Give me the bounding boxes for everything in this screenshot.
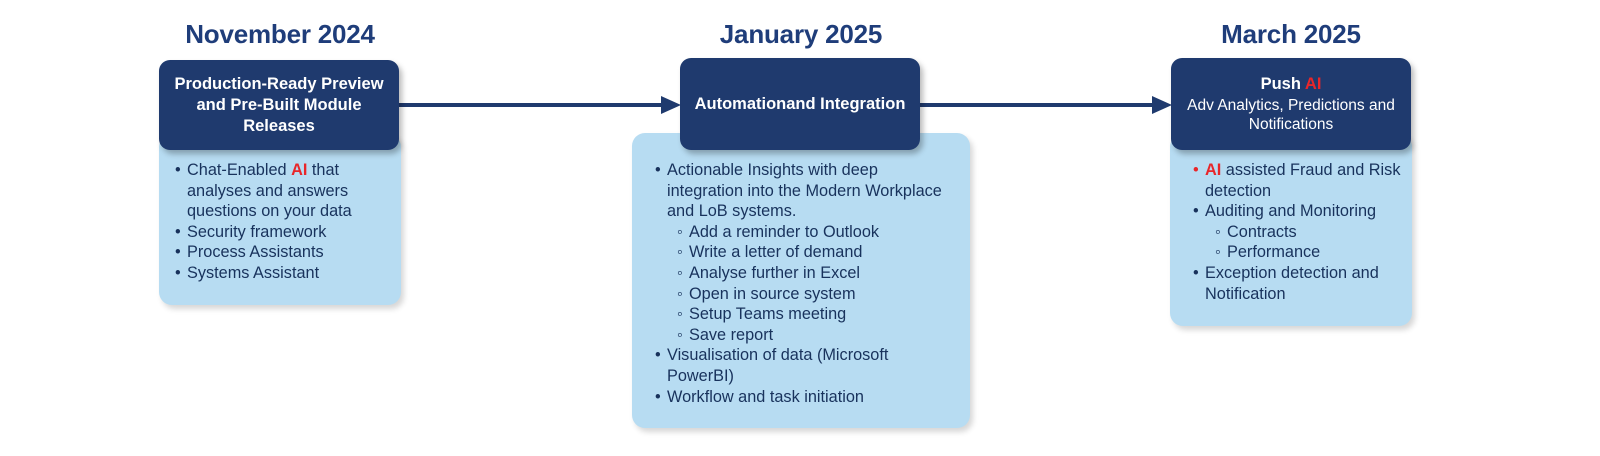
text-run: Security framework [187, 223, 326, 241]
sub-bullet-item: Write a letter of demand [655, 242, 955, 263]
milestone-title-1: Production-Ready Preview and Pre-Built M… [171, 74, 387, 137]
bullet-item: Chat-Enabled AI that analyses and answer… [175, 160, 393, 222]
bullet-item: AI assisted Fraud and Risk detection [1193, 160, 1408, 201]
bullet-item: Process Assistants [175, 242, 393, 263]
bullet-item: Systems Assistant [175, 263, 393, 284]
text-run: Push [1261, 75, 1305, 93]
text-run: Actionable Insights with deep integratio… [667, 161, 942, 220]
text-run: Write a letter of demand [689, 243, 862, 261]
bullet-item: Visualisation of data (Microsoft PowerBI… [655, 345, 955, 386]
sub-bullet-item: Open in source system [655, 284, 955, 305]
bullet-item: Actionable Insights with deep integratio… [655, 160, 955, 222]
timeline-column-3: March 2025 [1170, 0, 1412, 50]
text-run: Chat-Enabled [187, 161, 291, 179]
sub-bullet-item: Analyse further in Excel [655, 263, 955, 284]
text-run: Contracts [1227, 223, 1297, 241]
milestone-box-1: Production-Ready Preview and Pre-Built M… [159, 60, 399, 150]
milestone-box-2: Automationand Integration [680, 58, 920, 150]
text-run: Exception detection and Notification [1205, 264, 1379, 303]
date-heading-3: March 2025 [1170, 19, 1412, 50]
arrow-nov-to-jan-icon [399, 94, 681, 116]
sub-bullet-item: Setup Teams meeting [655, 304, 955, 325]
timeline-column-1: November 2024 [159, 0, 401, 50]
timeline-column-2: January 2025 [632, 0, 970, 50]
sub-bullet-item: Contracts [1193, 222, 1408, 243]
ai-highlight: AI [1305, 75, 1322, 93]
text-run: Add a reminder to Outlook [689, 223, 879, 241]
bullet-item: Auditing and Monitoring [1193, 201, 1408, 222]
milestone-title-3: Push AI [1261, 74, 1322, 95]
ai-highlight: AI [291, 161, 307, 179]
arrow-jan-to-mar-icon [919, 94, 1172, 116]
text-run: Setup Teams meeting [689, 305, 846, 323]
text-run: Workflow and task initiation [667, 388, 864, 406]
bullet-item: Security framework [175, 222, 393, 243]
milestone-subtitle-3: Adv Analytics, Predictions and Notificat… [1183, 96, 1399, 134]
bullet-list-1: Chat-Enabled AI that analyses and answer… [175, 160, 393, 284]
bullet-list-2: Actionable Insights with deep integratio… [655, 160, 955, 407]
sub-bullet-item: Add a reminder to Outlook [655, 222, 955, 243]
text-run: Auditing and Monitoring [1205, 202, 1376, 220]
bullet-item: Workflow and task initiation [655, 387, 955, 408]
text-run: Performance [1227, 243, 1320, 261]
milestone-title-2: Automationand Integration [695, 94, 906, 114]
date-heading-2: January 2025 [632, 19, 970, 50]
text-run: Systems Assistant [187, 264, 319, 282]
sub-bullet-item: Performance [1193, 242, 1408, 263]
sub-bullet-item: Save report [655, 325, 955, 346]
text-run: Save report [689, 326, 773, 344]
date-heading-1: November 2024 [159, 19, 401, 50]
milestone-box-3: Push AI Adv Analytics, Predictions and N… [1171, 58, 1411, 150]
text-run: Analyse further in Excel [689, 264, 860, 282]
bullet-list-3: AI assisted Fraud and Risk detectionAudi… [1193, 160, 1408, 304]
ai-highlight: AI [1205, 161, 1221, 179]
roadmap-timeline: November 2024 Production-Ready Preview a… [0, 0, 1600, 456]
text-run: Visualisation of data (Microsoft PowerBI… [667, 346, 888, 385]
bullet-item: Exception detection and Notification [1193, 263, 1408, 304]
text-run: Open in source system [689, 285, 856, 303]
text-run: assisted Fraud and Risk detection [1205, 161, 1400, 200]
text-run: Process Assistants [187, 243, 324, 261]
